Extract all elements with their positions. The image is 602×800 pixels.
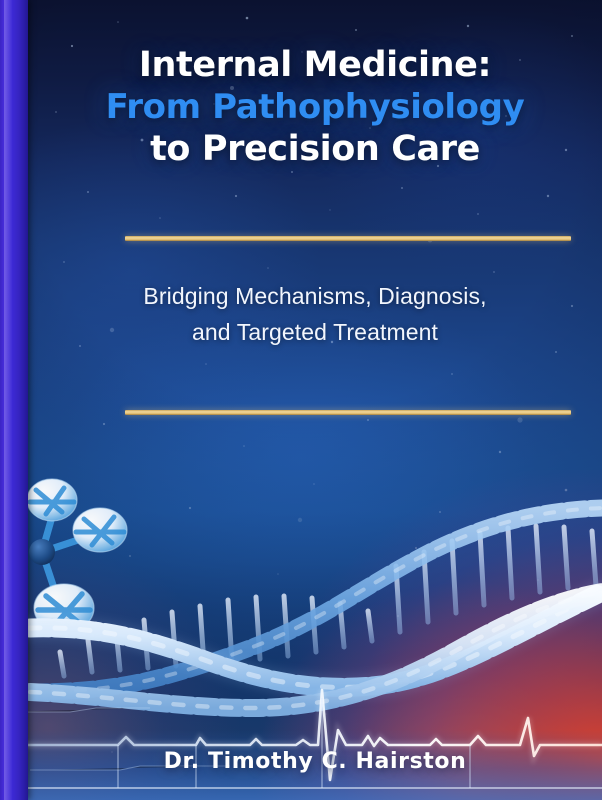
book-title: Internal Medicine: From Pathophysiology … [28,44,602,170]
subtitle-line-2: and Targeted Treatment [58,314,572,350]
spine-highlight [4,0,12,800]
book-subtitle: Bridging Mechanisms, Diagnosis, and Targ… [28,278,602,350]
title-line-2: From Pathophysiology [42,86,588,128]
divider-bottom [125,410,571,415]
author-block: Dr. Timothy C. Hairston [28,749,602,774]
cover-text-layer: Internal Medicine: From Pathophysiology … [0,0,602,800]
divider-top [125,236,571,241]
title-line-3: to Precision Care [42,128,588,170]
book-spine [0,0,28,800]
book-cover: Internal Medicine: From Pathophysiology … [0,0,602,800]
title-line-1: Internal Medicine: [42,44,588,86]
subtitle-line-1: Bridging Mechanisms, Diagnosis, [58,278,572,314]
author-name: Dr. Timothy C. Hairston [28,749,602,774]
